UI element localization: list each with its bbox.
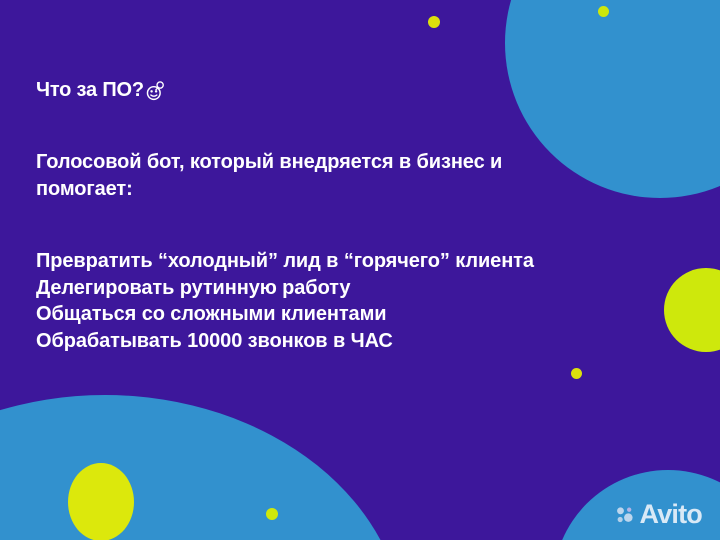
avito-watermark: Avito [615, 501, 703, 528]
decor-dot-mid-right [571, 368, 582, 379]
decor-dot-bottom [266, 508, 278, 520]
list-item: Обрабатывать 10000 звонков в ЧАС [36, 328, 556, 355]
list-item: Общаться со сложными клиентами [36, 301, 556, 328]
robot-face-emoji [145, 80, 167, 102]
slide-content: Что за ПО? Голосовой бот, который внедря… [36, 78, 636, 355]
avito-wordmark: Avito [640, 501, 703, 528]
avito-dots-logo-icon [615, 505, 635, 525]
decor-dot-top-center [428, 16, 440, 28]
slide-headline: Что за ПО? [36, 78, 636, 102]
headline-text: Что за ПО? [36, 78, 144, 102]
decor-circle-yellow-inset [68, 463, 134, 540]
slide-lead-paragraph: Голосовой бот, который внедряется в бизн… [36, 149, 576, 202]
list-item: Превратить “холодный” лид в “горячего” к… [36, 248, 556, 275]
benefits-list: Превратить “холодный” лид в “горячего” к… [36, 248, 636, 354]
decor-circle-right-yellow [664, 268, 720, 352]
decor-dot-top-right [598, 6, 609, 17]
decor-circle-bottom-left [0, 395, 405, 540]
promo-slide: Что за ПО? Голосовой бот, который внедря… [0, 0, 720, 540]
list-item: Делегировать рутинную работу [36, 275, 556, 302]
